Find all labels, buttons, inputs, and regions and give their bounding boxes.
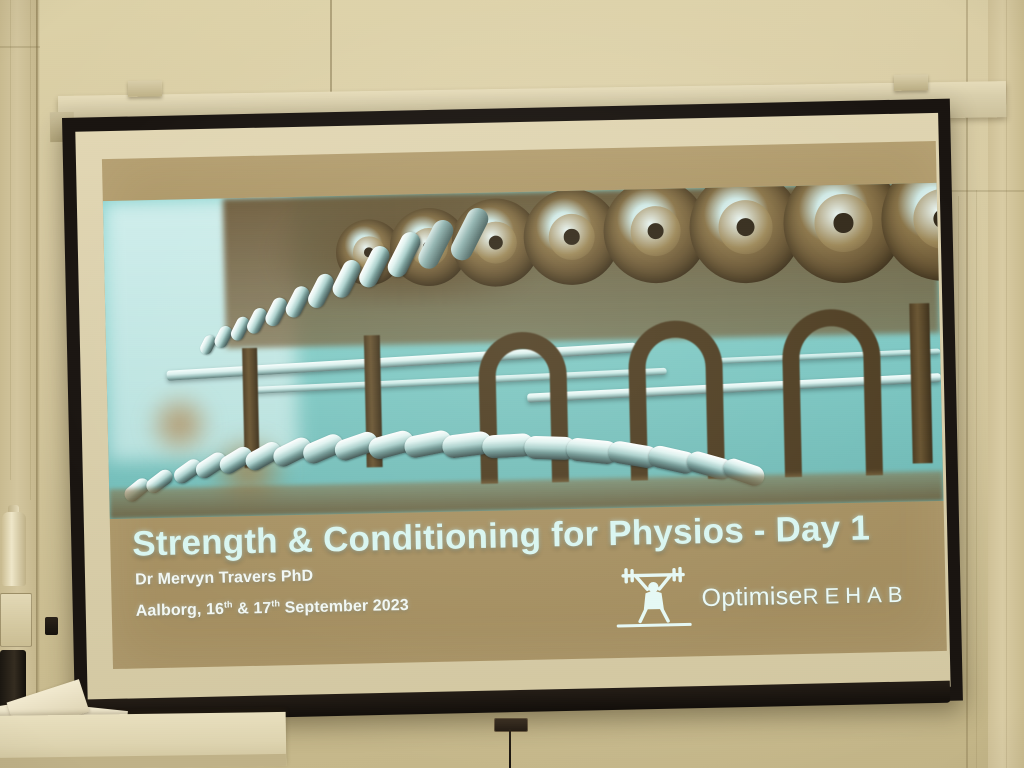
- wall-seam: [0, 46, 40, 48]
- slide-date-suffix: September 2023: [280, 597, 409, 617]
- wall-seam: [976, 190, 977, 768]
- wall-seam: [30, 0, 31, 500]
- logo-word-rehab: REHAB: [802, 582, 908, 609]
- slide-text-block: Strength & Conditioning for Physios - Da…: [110, 501, 947, 669]
- housing-bracket: [894, 74, 928, 91]
- screen-pull-cord[interactable]: [509, 729, 511, 768]
- housing-bracket: [128, 80, 162, 97]
- slide-presenter: Dr Mervyn Travers PhD: [135, 568, 314, 590]
- slide-date-sup-1: th: [224, 599, 233, 609]
- slide-title: Strength & Conditioning for Physios - Da…: [132, 507, 933, 564]
- hand-sanitiser-bottle[interactable]: [2, 512, 26, 586]
- logo-wordmark: OptimiseREHAB: [701, 580, 908, 614]
- wall-seam: [946, 190, 1024, 192]
- classroom-scene: Strength & Conditioning for Physios - Da…: [0, 0, 1024, 768]
- slide-date-mid: & 17: [233, 600, 272, 618]
- left-wall-jamb-shadow: [36, 0, 40, 768]
- screen-pull-handle[interactable]: [494, 718, 528, 732]
- slide-photo-dumbbell-rack: [103, 183, 944, 519]
- optimise-rehab-logo: OptimiseREHAB: [611, 559, 932, 638]
- wall-mounted-box[interactable]: [0, 593, 32, 647]
- wall-seam: [10, 0, 11, 480]
- weightlifter-icon: [611, 564, 696, 630]
- projector-screen[interactable]: Strength & Conditioning for Physios - Da…: [62, 99, 963, 720]
- projector-screen-surface: Strength & Conditioning for Physios - Da…: [75, 113, 950, 706]
- presentation-slide: Strength & Conditioning for Physios - Da…: [102, 141, 947, 669]
- wall-switch[interactable]: [45, 617, 58, 635]
- slide-date-prefix: Aalborg, 16: [136, 601, 225, 620]
- slide-date-line: Aalborg, 16th & 17th September 2023: [136, 596, 409, 621]
- logo-word-optimise: Optimise: [701, 582, 803, 612]
